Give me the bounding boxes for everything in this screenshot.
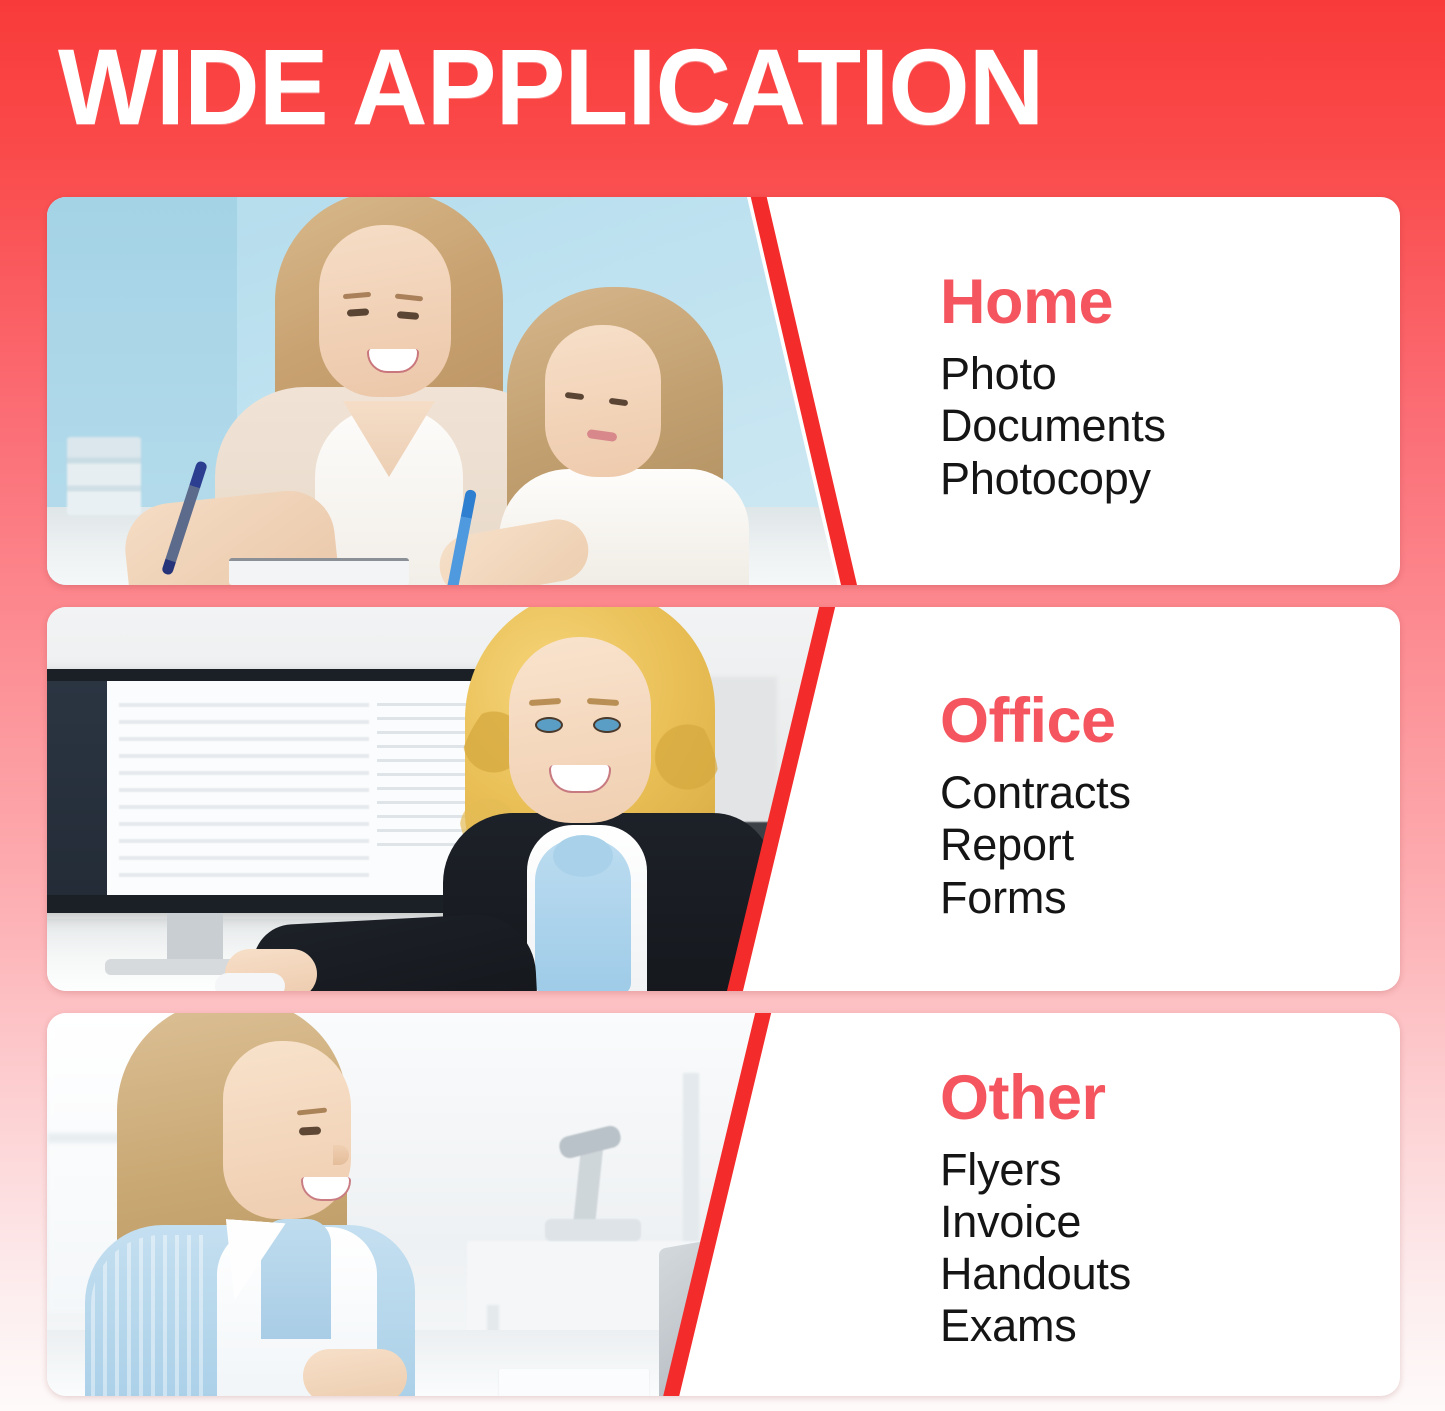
list-item: Photocopy [940, 453, 1400, 505]
plant-pot [723, 1345, 787, 1396]
woman-eye [299, 1126, 321, 1135]
list-item: Contracts [940, 767, 1400, 819]
screen-content-rows [119, 703, 369, 881]
title-banner: WIDE APPLICATION [0, 0, 1445, 180]
list-item: Handouts [940, 1248, 1400, 1300]
application-card-home: Home Photo Documents Photocopy [47, 197, 1400, 585]
girl-face [545, 325, 661, 477]
computer-mouse [215, 973, 285, 991]
list-item: Exams [940, 1300, 1400, 1352]
list-item: Photo [940, 348, 1400, 400]
monitor-stand [167, 913, 223, 963]
woman-eye-left [535, 717, 563, 733]
card-heading-other: Other [940, 1067, 1400, 1130]
list-item: Documents [940, 400, 1400, 452]
cardigan-ribbing [91, 1235, 211, 1396]
office-text-panel: Office Contracts Report Forms [840, 607, 1400, 991]
woman-eye-right [593, 717, 621, 733]
papers-on-bench [499, 1369, 649, 1396]
shelf-post [683, 1073, 699, 1253]
application-card-other: Other Flyers Invoice Handouts Exams [47, 1013, 1400, 1396]
notebook [229, 558, 409, 585]
home-text-panel: Home Photo Documents Photocopy [840, 197, 1400, 585]
list-item: Invoice [940, 1196, 1400, 1248]
other-text-panel: Other Flyers Invoice Handouts Exams [840, 1013, 1400, 1396]
test-tube [815, 1315, 832, 1396]
office-feature-list: Contracts Report Forms [940, 767, 1400, 924]
list-item: Flyers [940, 1144, 1400, 1196]
screen-sidebar [47, 681, 107, 895]
application-card-office: Office Contracts Report Forms [47, 607, 1400, 991]
plant-leaves [709, 1303, 805, 1359]
stacked-books [67, 437, 141, 515]
other-feature-list: Flyers Invoice Handouts Exams [940, 1144, 1400, 1353]
card-heading-office: Office [940, 690, 1400, 753]
woman-face [509, 637, 651, 823]
clasped-hands [303, 1349, 407, 1396]
list-item: Forms [940, 872, 1400, 924]
home-tutoring-photo [47, 197, 847, 585]
page-title: WIDE APPLICATION [58, 32, 1043, 142]
microscope-base [545, 1219, 641, 1241]
laboratory-scene [47, 1013, 847, 1396]
home-feature-list: Photo Documents Photocopy [940, 348, 1400, 505]
list-item: Report [940, 819, 1400, 871]
office-worker-photo [47, 607, 847, 991]
laboratory-photo [47, 1013, 847, 1396]
home-scene [47, 197, 847, 585]
card-heading-home: Home [940, 271, 1400, 334]
wide-application-poster: WIDE APPLICATION [0, 0, 1445, 1411]
office-scene [47, 607, 847, 991]
test-tube [791, 1305, 808, 1396]
bow-knot [553, 835, 613, 877]
